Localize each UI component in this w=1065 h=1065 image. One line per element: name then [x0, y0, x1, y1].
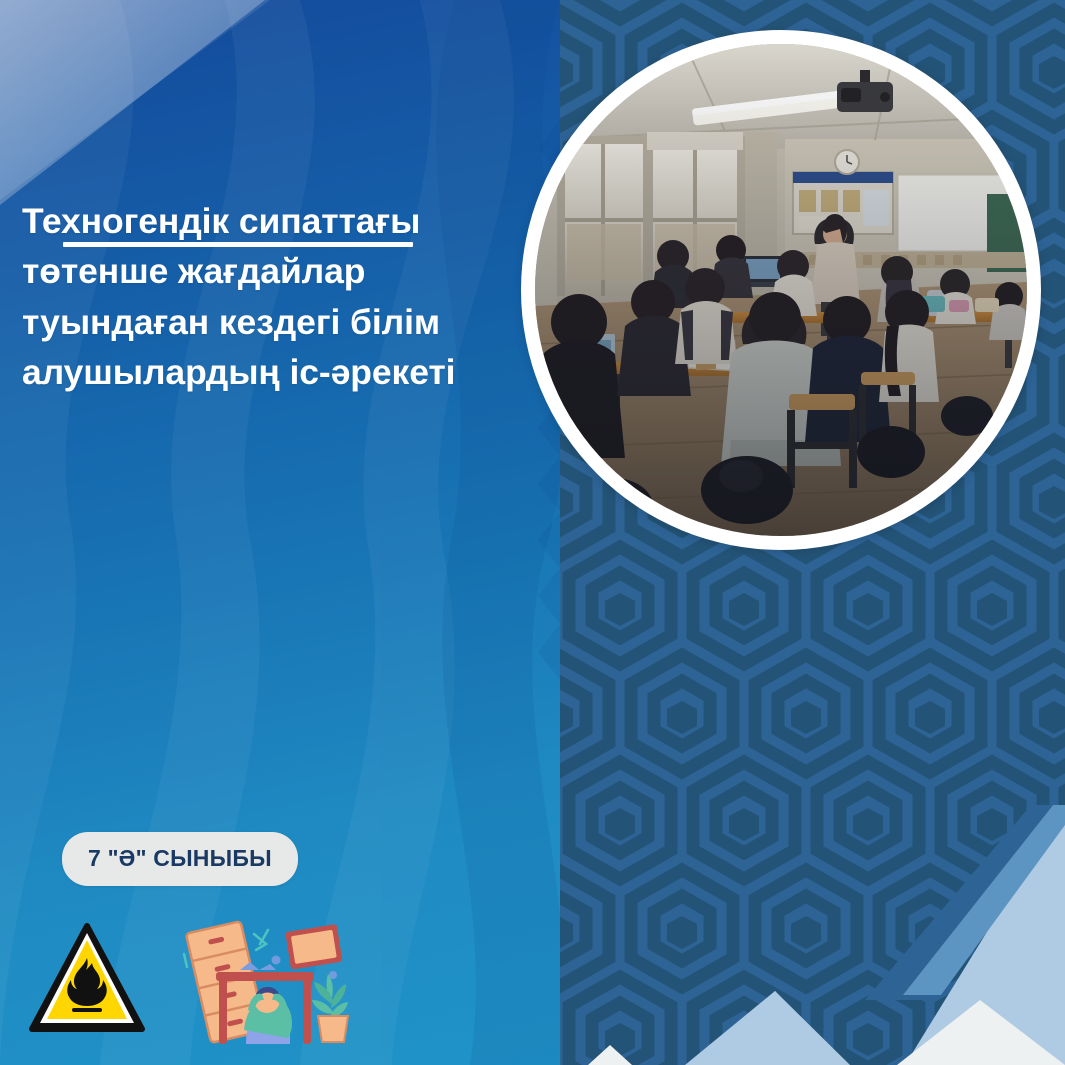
bottom-notch-decoration [588, 1045, 632, 1065]
earthquake-drop-cover-icon [168, 918, 354, 1048]
title-line-1: Техногендік сипаттағы [22, 201, 420, 241]
title-line-2: төтенше жағдайлар [22, 251, 365, 291]
flammable-hazard-icon [28, 920, 146, 1038]
classroom-photo-frame [521, 30, 1041, 550]
title-line-4: алушылардың іс-әрекеті [22, 352, 455, 392]
title-block: Техногендік сипаттағы төтенше жағдайлар … [22, 196, 522, 398]
top-left-glow-triangle [0, 0, 265, 205]
classroom-photo-illustration [535, 44, 1027, 536]
title-line-3: туындаған кездегі білім [22, 302, 440, 342]
title-divider-rule [63, 242, 413, 247]
classroom-photo [535, 44, 1027, 536]
poster-canvas: Техногендік сипаттағы төтенше жағдайлар … [0, 0, 1065, 1065]
left-gradient-panel [0, 0, 560, 1065]
wave-stripe-decoration [0, 0, 560, 1065]
class-badge: 7 "Ә" СЫНЫБЫ [62, 832, 298, 886]
page-title: Техногендік сипаттағы төтенше жағдайлар … [22, 196, 522, 398]
